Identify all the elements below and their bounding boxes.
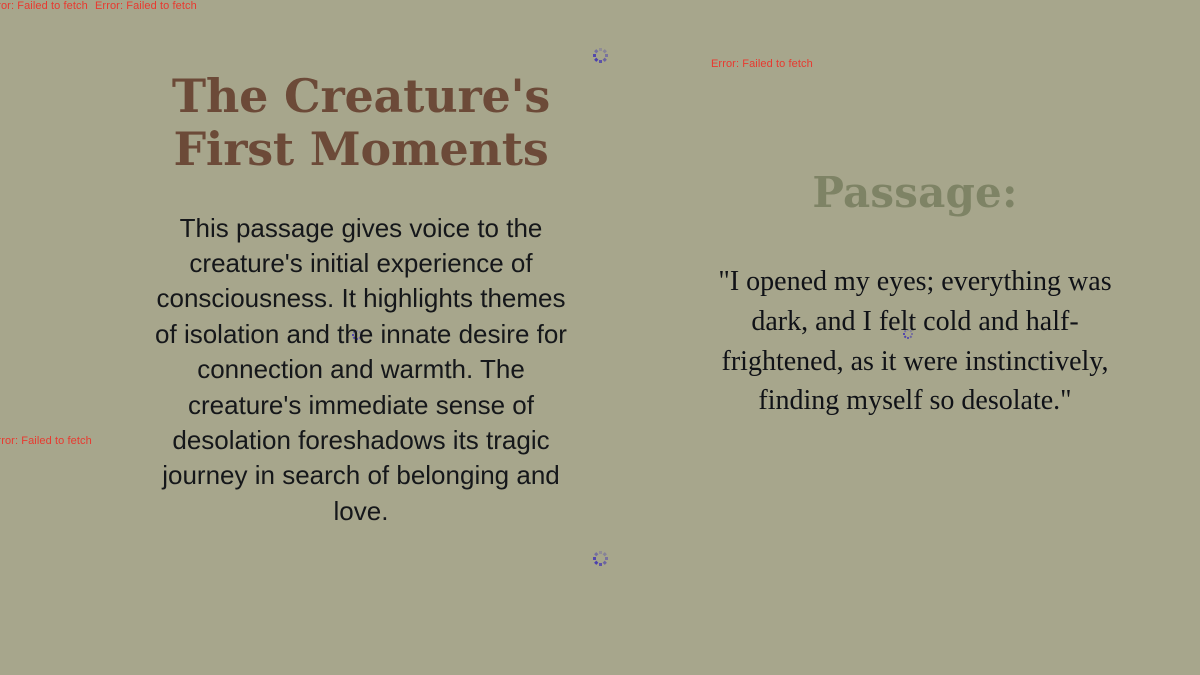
error-toast-center-top: Error: Failed to fetch [711, 58, 813, 70]
passage-quote: "I opened my eyes; everything was dark, … [700, 216, 1130, 421]
passage-heading: Passage: [700, 170, 1130, 216]
page-title: The Creature's First Moments [152, 70, 570, 177]
error-toast-top-left: Error: Failed to fetch [0, 0, 88, 12]
loading-spinner-bottom-icon [592, 550, 608, 566]
error-toast-left-middle: Error: Failed to fetch [0, 435, 92, 447]
loading-spinner-top-icon [592, 47, 608, 63]
right-column: Passage: "I opened my eyes; everything w… [700, 170, 1130, 421]
left-column: The Creature's First Moments This passag… [152, 70, 570, 529]
error-toast-top-second: Error: Failed to fetch [95, 0, 197, 12]
commentary-text: This passage gives voice to the creature… [152, 177, 570, 529]
